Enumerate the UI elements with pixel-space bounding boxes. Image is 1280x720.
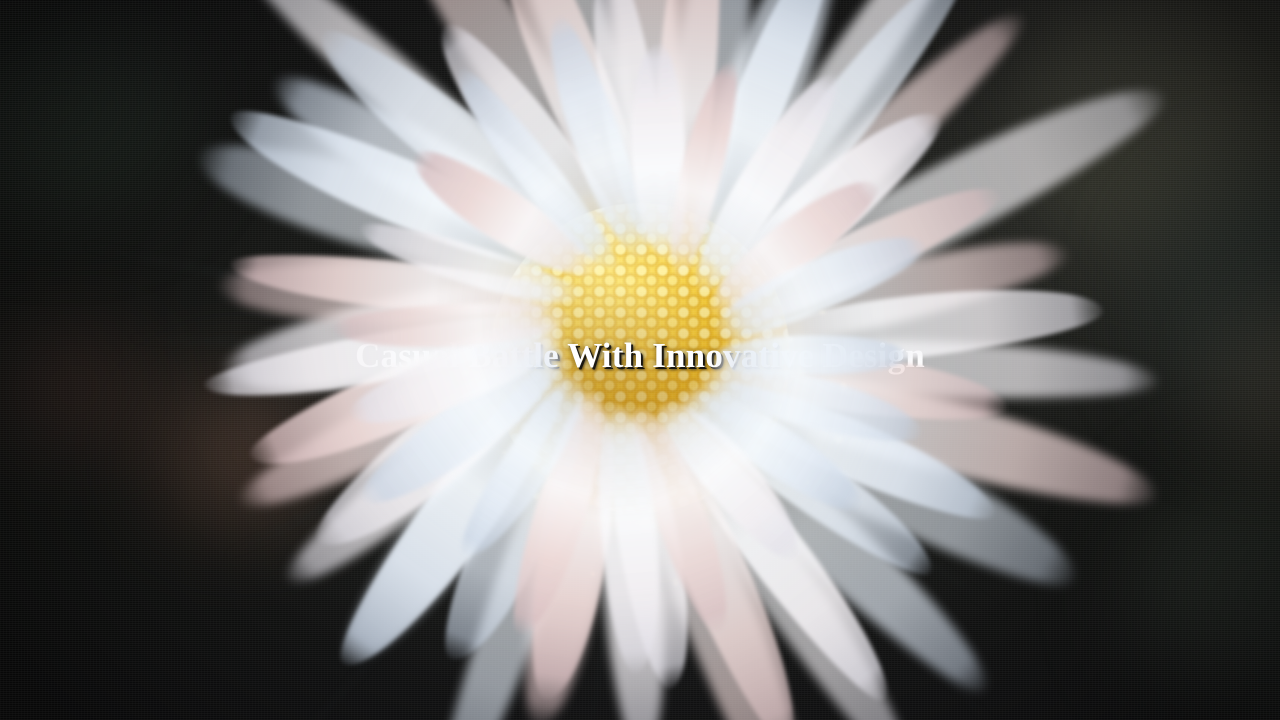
hero-banner: Casual Battle With Innovative Design: [0, 0, 1280, 720]
bokeh-blob: [0, 330, 150, 450]
